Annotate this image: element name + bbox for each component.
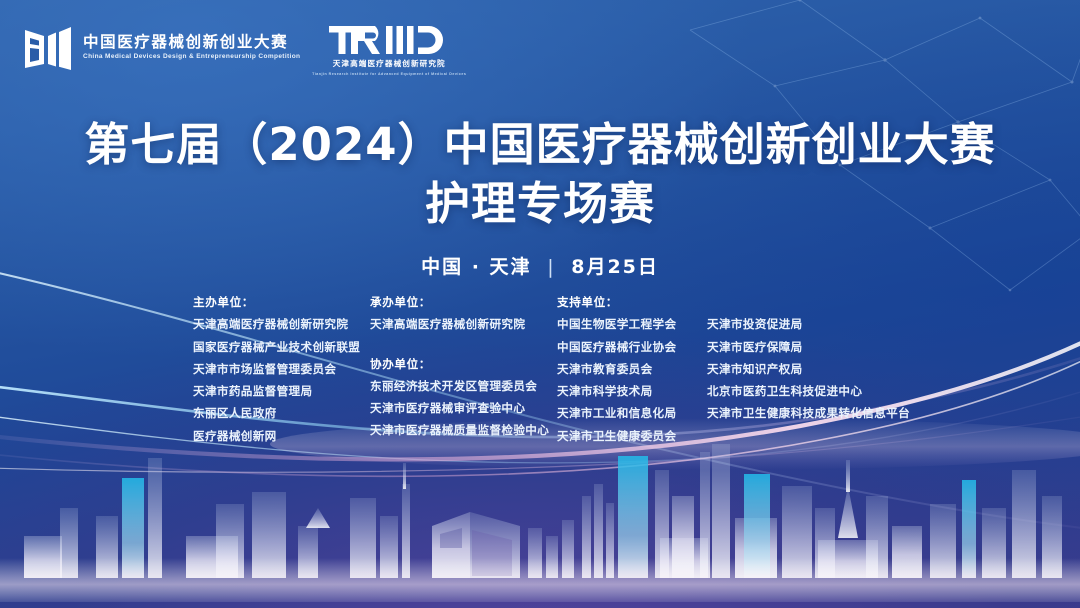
- support-heading: 支持单位：: [557, 291, 907, 313]
- list-item: 中国医疗器械行业协会: [557, 336, 693, 358]
- list-item: 天津市教育委员会: [557, 358, 693, 380]
- list-item: 天津市医疗保障局: [707, 336, 907, 358]
- date-text: 8月25日: [571, 256, 659, 278]
- open-book-gate-icon: [22, 24, 74, 70]
- organizer-column-organizer: 承办单位： 天津高端医疗器械创新研究院 协办单位： 东丽经济技术开发区管理委员会…: [370, 291, 557, 442]
- list-item: 天津市工业和信息化局: [557, 402, 693, 424]
- title-line-1: 第七届（2024）中国医疗器械创新创业大赛: [0, 118, 1080, 172]
- list-item: 北京市医药卫生科技促进中心: [707, 380, 907, 402]
- list-item: 天津市知识产权局: [707, 358, 907, 380]
- triid-wordmark-icon: [329, 25, 449, 55]
- title-line-2: 护理专场赛: [0, 177, 1080, 231]
- list-item: 天津市投资促进局: [707, 313, 907, 335]
- competition-logo-en: China Medical Devices Design & Entrepren…: [83, 53, 300, 60]
- organizer-group: 承办单位： 天津高端医疗器械创新研究院: [370, 291, 557, 336]
- support-sublist-b: 天津市投资促进局 天津市医疗保障局 天津市知识产权局 北京市医药卫生科技促进中心…: [707, 313, 907, 447]
- coorganizer-group: 协办单位： 东丽经济技术开发区管理委员会 天津市医疗器械审评查验中心 天津市医疗…: [370, 353, 557, 442]
- competition-logo-cn: 中国医疗器械创新创业大赛: [83, 34, 296, 50]
- place-separator: |: [547, 256, 555, 278]
- logo-bar: 中国医疗器械创新创业大赛 China Medical Devices Desig…: [22, 24, 466, 76]
- host-heading: 主办单位：: [193, 291, 370, 313]
- competition-logo: 中国医疗器械创新创业大赛 China Medical Devices Desig…: [22, 24, 296, 70]
- list-item: 天津市卫生健康委员会: [557, 425, 693, 447]
- host-group: 主办单位： 天津高端医疗器械创新研究院 国家医疗器械产业技术创新联盟 天津市市场…: [193, 291, 370, 447]
- list-item: 医疗器械创新网: [193, 425, 370, 447]
- institute-logo: 天津高端医疗器械创新研究院 Tianjin Research Institute…: [312, 24, 466, 76]
- list-item: 天津市科学技术局: [557, 380, 693, 402]
- coorganizer-heading: 协办单位：: [370, 353, 557, 375]
- list-item: 天津市医疗器械质量监督检验中心: [370, 419, 557, 441]
- list-item: 天津市市场监督管理委员会: [193, 358, 370, 380]
- list-item: 东丽区人民政府: [193, 402, 370, 424]
- event-poster: 中国医疗器械创新创业大赛 China Medical Devices Desig…: [0, 0, 1080, 608]
- organizer-heading: 承办单位：: [370, 291, 557, 313]
- support-sublist-a: 中国生物医学工程学会 中国医疗器械行业协会 天津市教育委员会 天津市科学技术局 …: [557, 313, 693, 447]
- location-text: 中国 · 天津: [421, 256, 531, 278]
- organizer-block: 主办单位： 天津高端医疗器械创新研究院 国家医疗器械产业技术创新联盟 天津市市场…: [193, 291, 907, 447]
- list-item: 天津高端医疗器械创新研究院: [370, 313, 557, 335]
- organizer-column-support: 支持单位： 中国生物医学工程学会 中国医疗器械行业协会 天津市教育委员会 天津市…: [557, 291, 907, 447]
- place-date-line: 中国 · 天津 | 8月25日: [0, 252, 1080, 279]
- list-item: 天津高端医疗器械创新研究院: [193, 313, 370, 335]
- institute-logo-en: Tianjin Research Institute for Advanced …: [312, 72, 466, 76]
- list-item: 国家医疗器械产业技术创新联盟: [193, 336, 370, 358]
- list-item: 天津市卫生健康科技成果转化信息平台: [707, 402, 907, 424]
- organizer-column-host: 主办单位： 天津高端医疗器械创新研究院 国家医疗器械产业技术创新联盟 天津市市场…: [193, 291, 370, 447]
- list-item: 天津市医疗器械审评查验中心: [370, 397, 557, 419]
- poster-title: 第七届（2024）中国医疗器械创新创业大赛 护理专场赛: [0, 118, 1080, 230]
- list-item: 东丽经济技术开发区管理委员会: [370, 375, 557, 397]
- list-item: 天津市药品监督管理局: [193, 380, 370, 402]
- institute-logo-cn: 天津高端医疗器械创新研究院: [333, 58, 446, 69]
- list-item: 中国生物医学工程学会: [557, 313, 693, 335]
